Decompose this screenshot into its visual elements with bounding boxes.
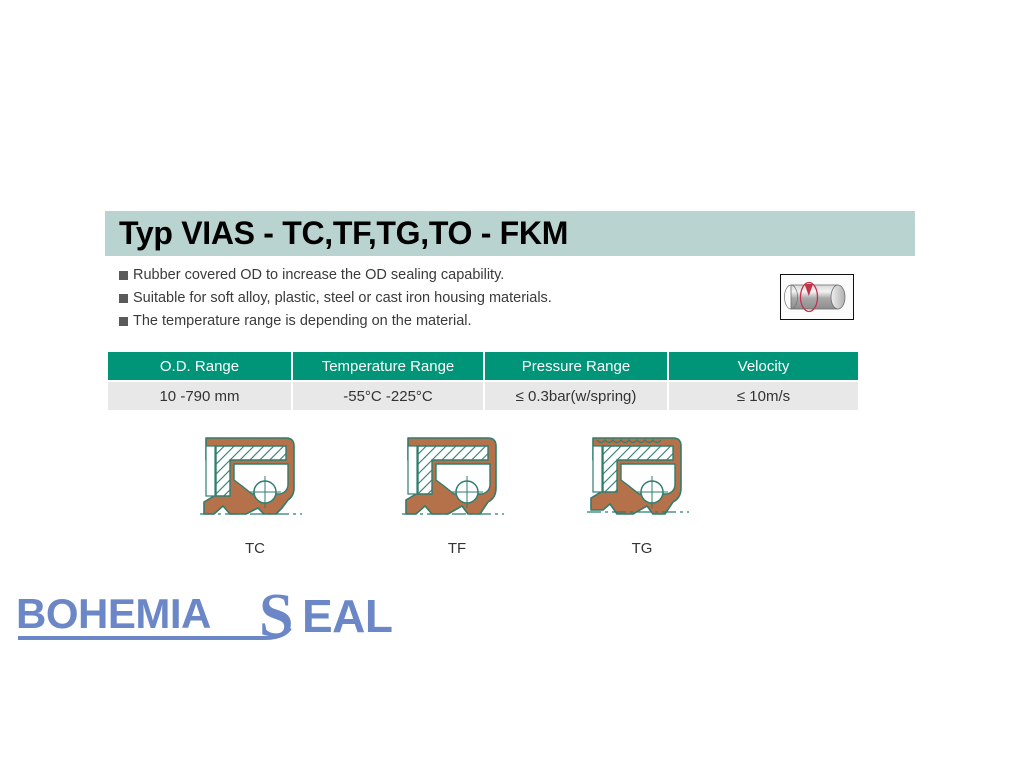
seal-diagram-tf: TF xyxy=(392,430,522,560)
slide-canvas: Typ VIAS - TC,TF,TG,TO - FKM Rubber cove… xyxy=(0,0,1024,768)
square-bullet-icon xyxy=(119,271,128,280)
title-banner: Typ VIAS - TC,TF,TG,TO - FKM xyxy=(105,211,915,256)
list-item-label: Rubber covered OD to increase the OD sea… xyxy=(133,266,504,285)
seal-label-tf: TF xyxy=(392,540,522,557)
bohemia-seal-logo: BOHEMIA S EAL xyxy=(14,588,404,646)
table-row: 10 -790 mm -55°C -225°C ≤ 0.3bar(w/sprin… xyxy=(108,382,858,410)
cell-velocity: ≤ 10m/s xyxy=(669,382,858,410)
list-item-label: Suitable for soft alloy, plastic, steel … xyxy=(133,289,552,308)
square-bullet-icon xyxy=(119,317,128,326)
page-title: Typ VIAS - TC,TF,TG,TO - FKM xyxy=(105,215,568,252)
list-item: The temperature range is depending on th… xyxy=(119,312,759,333)
feature-list: Rubber covered OD to increase the OD sea… xyxy=(119,266,759,335)
square-bullet-icon xyxy=(119,294,128,303)
column-header-velocity: Velocity xyxy=(669,352,858,380)
seal-diagram-tc: TC xyxy=(190,430,320,560)
svg-text:EAL: EAL xyxy=(302,590,393,642)
list-item-label: The temperature range is depending on th… xyxy=(133,312,472,331)
specification-table: O.D. Range Temperature Range Pressure Ra… xyxy=(106,350,860,412)
list-item: Rubber covered OD to increase the OD sea… xyxy=(119,266,759,287)
seal-diagram-tg: TG xyxy=(577,430,707,560)
column-header-pressure: Pressure Range xyxy=(485,352,667,380)
seal-label-tc: TC xyxy=(190,540,320,557)
column-header-od-range: O.D. Range xyxy=(108,352,291,380)
seal-label-tg: TG xyxy=(577,540,707,557)
cell-pressure: ≤ 0.3bar(w/spring) xyxy=(485,382,667,410)
svg-text:BOHEMIA: BOHEMIA xyxy=(16,590,211,637)
column-header-temperature: Temperature Range xyxy=(293,352,483,380)
cell-temperature: -55°C -225°C xyxy=(293,382,483,410)
seal-diagram-group: TC TF xyxy=(0,430,1024,565)
cell-od-range: 10 -790 mm xyxy=(108,382,291,410)
rotating-shaft-icon xyxy=(780,274,854,320)
table-header-row: O.D. Range Temperature Range Pressure Ra… xyxy=(108,352,858,380)
list-item: Suitable for soft alloy, plastic, steel … xyxy=(119,289,759,310)
